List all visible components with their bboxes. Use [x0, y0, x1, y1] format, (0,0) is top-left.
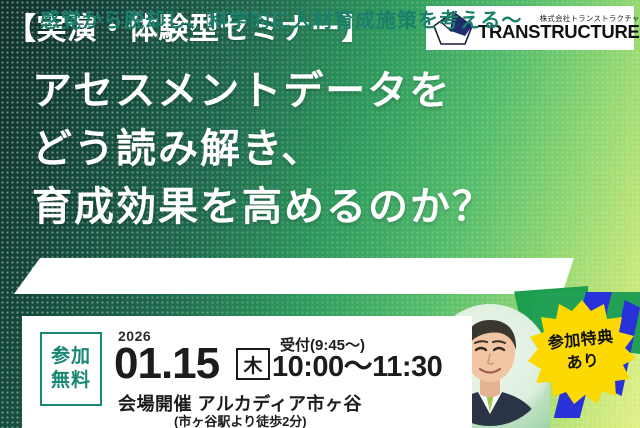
- bonus-badge-label: 参加特典 あり: [523, 295, 640, 410]
- seminar-banner: 【実演・体験型セミナー】 株式会社トランストラクチャ TRANSTRUCTURE…: [0, 0, 640, 428]
- subtitle-ribbon: [14, 258, 574, 294]
- event-date: 01.15: [114, 340, 219, 388]
- event-venue-note: (市ヶ谷駅より徒歩2分): [174, 411, 307, 428]
- free-badge-line-1: 参加: [51, 345, 91, 369]
- event-info-card: 参加 無料 2026 01.15 木 受付(9:45〜) 10:00〜11:30…: [22, 316, 472, 428]
- event-weekday: 木: [236, 348, 270, 380]
- headline-line-3: 育成効果を高めるのか？: [0, 178, 600, 236]
- subtitle-text: 感覚から脱却し、科学的に人材育成施策を考える〜: [40, 0, 522, 36]
- headline-block: アセスメントデータを どう読み解き、 育成効果を高めるのか？: [0, 62, 600, 236]
- free-admission-badge: 参加 無料: [40, 332, 102, 406]
- bonus-badge-line-2: あり: [566, 350, 601, 375]
- headline-line-2: どう読み解き、: [0, 120, 600, 178]
- event-time: 10:00〜11:30: [272, 349, 442, 385]
- free-badge-line-2: 無料: [51, 369, 91, 393]
- headline-line-1: アセスメントデータを: [0, 62, 600, 120]
- bonus-badge: 参加特典 あり: [528, 300, 636, 404]
